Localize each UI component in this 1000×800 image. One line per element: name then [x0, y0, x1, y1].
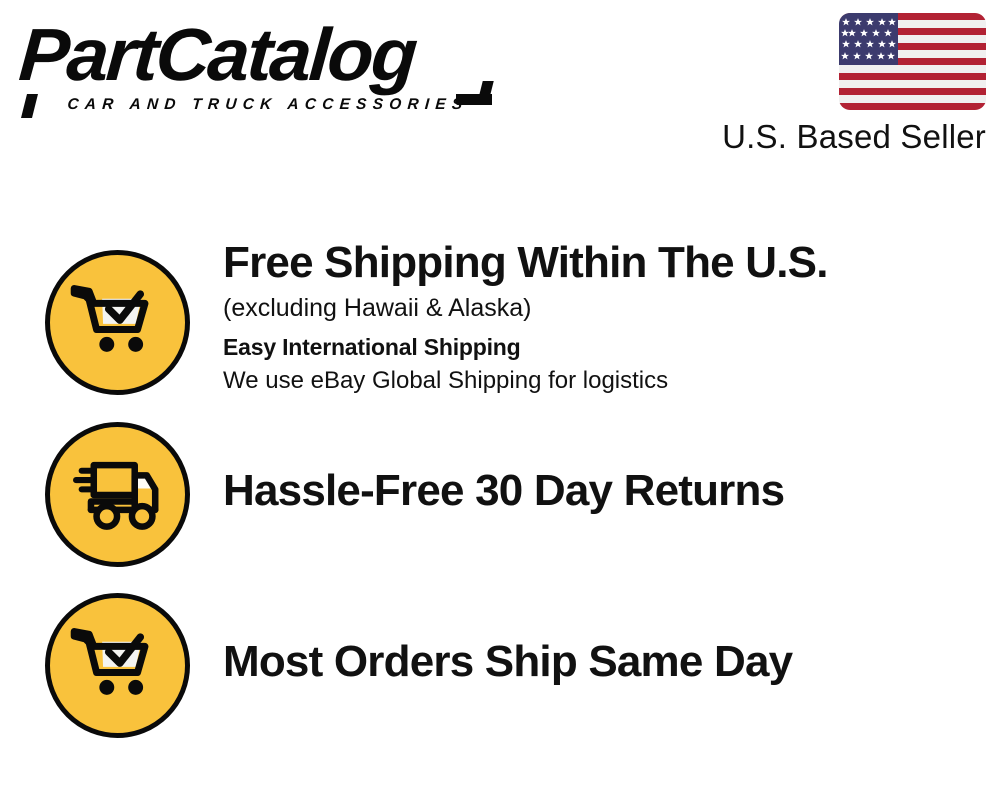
delivery-truck-glyph [50, 427, 185, 562]
feature-title: Hassle-Free 30 Day Returns [223, 465, 983, 517]
shopping-cart-check-glyph [50, 255, 185, 390]
feature-bold-line: Easy International Shipping [223, 330, 983, 364]
feature-text-block: Most Orders Ship Same Day [223, 636, 983, 688]
feature-title: Most Orders Ship Same Day [223, 636, 983, 688]
feature-title: Free Shipping Within The U.S. [223, 237, 983, 289]
feature-list: Free Shipping Within The U.S. (excluding… [0, 0, 1000, 800]
feature-text-block: Hassle-Free 30 Day Returns [223, 465, 983, 517]
shopping-cart-check-glyph [50, 598, 185, 733]
delivery-truck-icon [45, 422, 190, 567]
shopping-cart-check-icon [45, 250, 190, 395]
feature-text-block: Free Shipping Within The U.S. (excluding… [223, 237, 983, 398]
feature-note: We use eBay Global Shipping for logistic… [223, 364, 983, 398]
feature-subtitle: (excluding Hawaii & Alaska) [223, 291, 983, 325]
shopping-cart-check-icon [45, 593, 190, 738]
